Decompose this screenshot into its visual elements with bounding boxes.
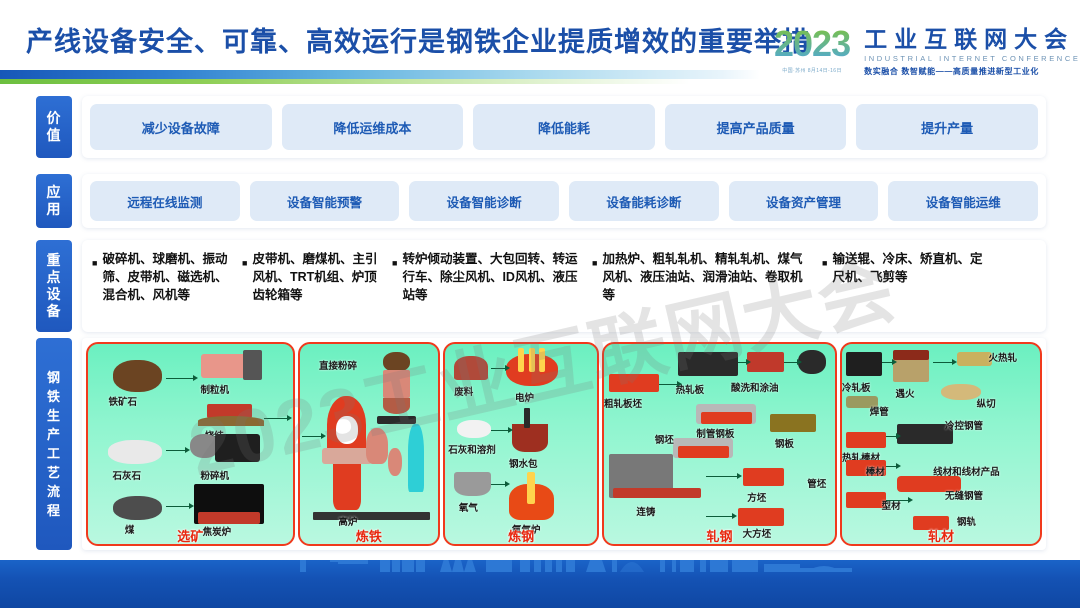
- flow-equipment-pictogram: [454, 356, 487, 380]
- flow-equipment-pictogram: [738, 508, 784, 526]
- process-flow-row: 钢铁生产工艺流程 铁矿石制粒机烧结石灰石粉碎机煤焦炭炉选矿直接粉碎高炉炼铁电炉钢…: [36, 338, 1046, 550]
- flow-arrow-icon: [264, 418, 289, 419]
- equipment-column-list: ■破碎机、球磨机、振动筛、皮带机、磁选机、混合机、风机等■皮带机、磨煤机、主引风…: [88, 250, 1040, 304]
- value-row: 价值 减少设备故障降低运维成本降低能耗提高产品质量提升产量: [36, 96, 1046, 158]
- logo-text-block: 工业互联网大会 INDUSTRIAL INTERNET CONFERENCE 数…: [864, 26, 1080, 77]
- value-card-1[interactable]: 降低运维成本: [282, 104, 464, 150]
- flow-equipment-pictogram: [527, 472, 535, 504]
- conference-name-en: INDUSTRIAL INTERNET CONFERENCE: [864, 54, 1080, 63]
- flow-node-label: 钢坯: [655, 432, 674, 446]
- value-card-3[interactable]: 提高产品质量: [665, 104, 847, 150]
- flow-equipment-pictogram: [770, 414, 816, 432]
- flow-node-label: 火热轧: [989, 350, 1018, 364]
- equipment-row-body: ■破碎机、球磨机、振动筛、皮带机、磁选机、混合机、风机等■皮带机、磨煤机、主引风…: [82, 240, 1046, 332]
- flow-equipment-pictogram: [846, 432, 886, 448]
- flow-equipment-pictogram: [893, 350, 929, 360]
- flow-arrow-icon: [166, 378, 195, 379]
- flow-arrow-icon: [886, 466, 898, 467]
- flow-arrow-icon: [166, 506, 191, 507]
- flow-equipment-pictogram: [613, 488, 701, 498]
- flow-node-label: 棒材: [866, 464, 885, 478]
- process-stage-label: 选矿: [88, 526, 293, 545]
- equipment-item-3: ■加热炉、粗轧轧机、精轧轧机、煤气风机、液压油站、润滑油站、卷取机等: [588, 250, 818, 304]
- slide-content: 价值 减少设备故障降低运维成本降低能耗提高产品质量提升产量 应用 远程在线监测设…: [0, 92, 1080, 560]
- flow-equipment-pictogram: [388, 448, 402, 476]
- logo-year-subtitle: 中国·苏州 8月14日-16日: [774, 67, 850, 74]
- flow-equipment-pictogram: [198, 512, 259, 524]
- equipment-item-label: 皮带机、磨煤机、主引风机、TRT机组、炉顶齿轮箱等: [252, 250, 384, 304]
- flow-equipment-pictogram: [113, 360, 162, 392]
- process-stage-轧钢[interactable]: 粗轧板坯热轧板酸洗和涂油制管钢板钢板钢坯连铸方坯大方坯管坯轧钢: [602, 342, 837, 546]
- flow-equipment-pictogram: [383, 352, 411, 372]
- conference-logo: 2023 中国·苏州 8月14日-16日 工业互联网大会 INDUSTRIAL …: [774, 26, 1074, 88]
- application-row-tab: 应用: [36, 174, 72, 228]
- flow-equipment-pictogram: [846, 352, 882, 376]
- flow-equipment-pictogram: [957, 352, 993, 366]
- flow-equipment-pictogram: [678, 352, 738, 376]
- page-header: 产线设备安全、可靠、高效运行是钢铁企业提质增效的重要举措 2023 中国·苏州 …: [0, 0, 1080, 92]
- value-card-4[interactable]: 提升产量: [856, 104, 1038, 150]
- city-skyline-icon: [0, 560, 1080, 572]
- page-title: 产线设备安全、可靠、高效运行是钢铁企业提质增效的重要举措: [26, 20, 810, 59]
- flow-equipment-pictogram: [243, 350, 261, 380]
- flow-equipment-pictogram: [518, 348, 524, 372]
- flow-equipment-pictogram: [678, 446, 729, 458]
- flow-equipment-pictogram: [215, 434, 260, 462]
- flow-arrow-icon: [933, 362, 953, 363]
- process-stage-label: 轧材: [842, 526, 1040, 545]
- application-pill-list: 远程在线监测设备智能预警设备智能诊断设备能耗诊断设备资产管理设备智能运维: [82, 181, 1046, 221]
- flow-equipment-pictogram: [366, 428, 388, 464]
- process-stage-label: 炼钢: [445, 526, 597, 545]
- flow-arrow-icon: [784, 362, 798, 363]
- flow-arrow-icon: [491, 484, 506, 485]
- flow-node-label: 石灰石: [113, 468, 142, 482]
- flow-equipment-pictogram: [743, 468, 785, 486]
- flow-node-label: 方坯: [747, 490, 766, 504]
- flow-node-label: 酸洗和涂油: [731, 380, 779, 394]
- process-stage-label: 炼铁: [300, 526, 439, 545]
- flow-arrow-icon: [706, 516, 734, 517]
- flow-node-label: 铁矿石: [108, 394, 137, 408]
- flow-arrow-icon: [491, 430, 509, 431]
- flow-equipment-pictogram: [113, 496, 162, 520]
- flow-equipment-pictogram: [941, 384, 981, 400]
- flow-node-label: 纵切: [977, 396, 996, 410]
- flow-equipment-pictogram: [701, 412, 752, 424]
- application-card-5[interactable]: 设备智能运维: [888, 181, 1038, 221]
- flow-equipment-pictogram: [846, 492, 886, 508]
- conference-tagline: 数实融合 数智赋能——高质量推进新型工业化: [864, 66, 1080, 77]
- flow-node-label: 遇火: [895, 386, 914, 400]
- equipment-item-label: 破碎机、球磨机、振动筛、皮带机、磁选机、混合机、风机等: [102, 250, 234, 304]
- bullet-square-icon: ■: [592, 254, 597, 272]
- flow-node-label: 石灰和溶剂: [448, 442, 496, 456]
- application-card-3[interactable]: 设备能耗诊断: [569, 181, 719, 221]
- bullet-square-icon: ■: [392, 254, 397, 272]
- application-card-1[interactable]: 设备智能预警: [250, 181, 400, 221]
- bullet-square-icon: ■: [242, 254, 247, 272]
- flow-node-label: 冷轧板: [842, 380, 871, 394]
- value-pill-list: 减少设备故障降低运维成本降低能耗提高产品质量提升产量: [82, 104, 1046, 150]
- flow-equipment-pictogram: [609, 374, 660, 392]
- flow-node-label: 钢板: [775, 436, 794, 450]
- equipment-row: 重点设备 ■破碎机、球磨机、振动筛、皮带机、磁选机、混合机、风机等■皮带机、磨煤…: [36, 240, 1046, 332]
- process-stage-选矿[interactable]: 铁矿石制粒机烧结石灰石粉碎机煤焦炭炉选矿: [86, 342, 295, 546]
- process-flow-diagram: 铁矿石制粒机烧结石灰石粉碎机煤焦炭炉选矿直接粉碎高炉炼铁电炉钢水包氧气炉废料石灰…: [82, 338, 1046, 550]
- flow-arrow-icon: [659, 384, 677, 385]
- flow-arrow-icon: [166, 450, 186, 451]
- flow-equipment-pictogram: [383, 398, 411, 414]
- flow-equipment-pictogram: [524, 408, 530, 428]
- flow-equipment-pictogram: [529, 348, 535, 372]
- bullet-square-icon: ■: [822, 254, 827, 272]
- page-footer: [0, 560, 1080, 608]
- process-stage-炼铁[interactable]: 直接粉碎高炉炼铁: [298, 342, 441, 546]
- equipment-item-label: 输送辊、冷床、矫直机、定尺机、飞剪等: [832, 250, 994, 286]
- flow-node-label: 钢水包: [509, 456, 538, 470]
- flow-arrow-icon: [302, 436, 321, 437]
- process-stage-label: 轧钢: [604, 526, 835, 545]
- flow-node-label: 粗轧板坯: [604, 396, 642, 410]
- logo-year: 2023: [774, 26, 850, 62]
- flow-node-label: 直接粉碎: [319, 358, 357, 372]
- flow-arrow-icon: [491, 368, 506, 369]
- flow-node-label: 无缝钢管: [945, 488, 983, 502]
- equipment-item-2: ■转炉倾动装置、大包回转、转运行车、除尘风机、ID风机、液压站等: [388, 250, 588, 304]
- process-stage-轧材[interactable]: 冷轧板遇火火热轧纵切焊管冷控钢管热轧棒材棒材线材和线材产品无缝钢管型材钢轨轧材: [840, 342, 1042, 546]
- flow-node-label: 连铸: [636, 504, 655, 518]
- process-stage-炼钢[interactable]: 电炉钢水包氧气炉废料石灰和溶剂氧气炼钢: [443, 342, 599, 546]
- flow-equipment-pictogram: [454, 472, 490, 496]
- flow-arrow-icon: [886, 436, 898, 437]
- flow-node-label: 制粒机: [201, 382, 230, 396]
- header-gradient-bar-blue: [0, 70, 760, 79]
- flow-arrow-icon: [882, 362, 894, 363]
- value-row-body: 减少设备故障降低运维成本降低能耗提高产品质量提升产量: [82, 96, 1046, 158]
- header-gradient-bar-green: [0, 79, 690, 84]
- flow-equipment-pictogram: [539, 348, 545, 372]
- flow-node-label: 管坯: [807, 476, 826, 490]
- value-card-0[interactable]: 减少设备故障: [90, 104, 272, 150]
- flow-node-label: 粉碎机: [201, 468, 230, 482]
- flow-equipment-pictogram: [798, 350, 826, 374]
- equipment-item-1: ■皮带机、磨煤机、主引风机、TRT机组、炉顶齿轮箱等: [238, 250, 388, 304]
- flow-equipment-pictogram: [512, 424, 548, 452]
- flow-node-label: 冷控钢管: [945, 418, 983, 432]
- flow-equipment-pictogram: [408, 424, 425, 492]
- logo-year-block: 2023 中国·苏州 8月14日-16日: [774, 26, 850, 74]
- flow-equipment-pictogram: [747, 352, 784, 372]
- flow-node-label: 废料: [454, 384, 473, 398]
- flow-equipment-pictogram: [377, 416, 416, 424]
- flow-equipment-pictogram: [198, 416, 263, 426]
- flow-arrow-icon: [886, 500, 910, 501]
- flow-node-label: 电炉: [515, 390, 534, 404]
- bullet-square-icon: ■: [92, 254, 97, 272]
- flow-equipment-pictogram: [383, 370, 411, 398]
- equipment-item-4: ■输送辊、冷床、矫直机、定尺机、飞剪等: [818, 250, 998, 304]
- flow-node-label: 氧气: [459, 500, 478, 514]
- application-row-body: 远程在线监测设备智能预警设备智能诊断设备能耗诊断设备资产管理设备智能运维: [82, 174, 1046, 228]
- equipment-item-label: 转炉倾动装置、大包回转、转运行车、除尘风机、ID风机、液压站等: [402, 250, 584, 304]
- conference-name-cn: 工业互联网大会: [864, 26, 1080, 52]
- process-flow-row-tab: 钢铁生产工艺流程: [36, 338, 72, 550]
- equipment-item-0: ■破碎机、球磨机、振动筛、皮带机、磁选机、混合机、风机等: [88, 250, 238, 304]
- value-card-2[interactable]: 降低能耗: [473, 104, 655, 150]
- flow-equipment-pictogram: [336, 416, 358, 444]
- flow-equipment-pictogram: [108, 440, 161, 464]
- value-row-tab: 价值: [36, 96, 72, 158]
- equipment-row-tab: 重点设备: [36, 240, 72, 332]
- flow-arrow-icon: [706, 476, 738, 477]
- equipment-item-label: 加热炉、粗轧轧机、精轧轧机、煤气风机、液压油站、润滑油站、卷取机等: [602, 250, 814, 304]
- flow-equipment-pictogram: [457, 420, 490, 438]
- application-row: 应用 远程在线监测设备智能预警设备智能诊断设备能耗诊断设备资产管理设备智能运维: [36, 174, 1046, 228]
- flow-equipment-pictogram: [322, 448, 372, 464]
- flow-arrow-icon: [738, 362, 747, 363]
- flow-equipment-pictogram: [313, 512, 429, 520]
- application-card-0[interactable]: 远程在线监测: [90, 181, 240, 221]
- flow-node-label: 焊管: [870, 404, 889, 418]
- application-card-2[interactable]: 设备智能诊断: [409, 181, 559, 221]
- application-card-4[interactable]: 设备资产管理: [729, 181, 879, 221]
